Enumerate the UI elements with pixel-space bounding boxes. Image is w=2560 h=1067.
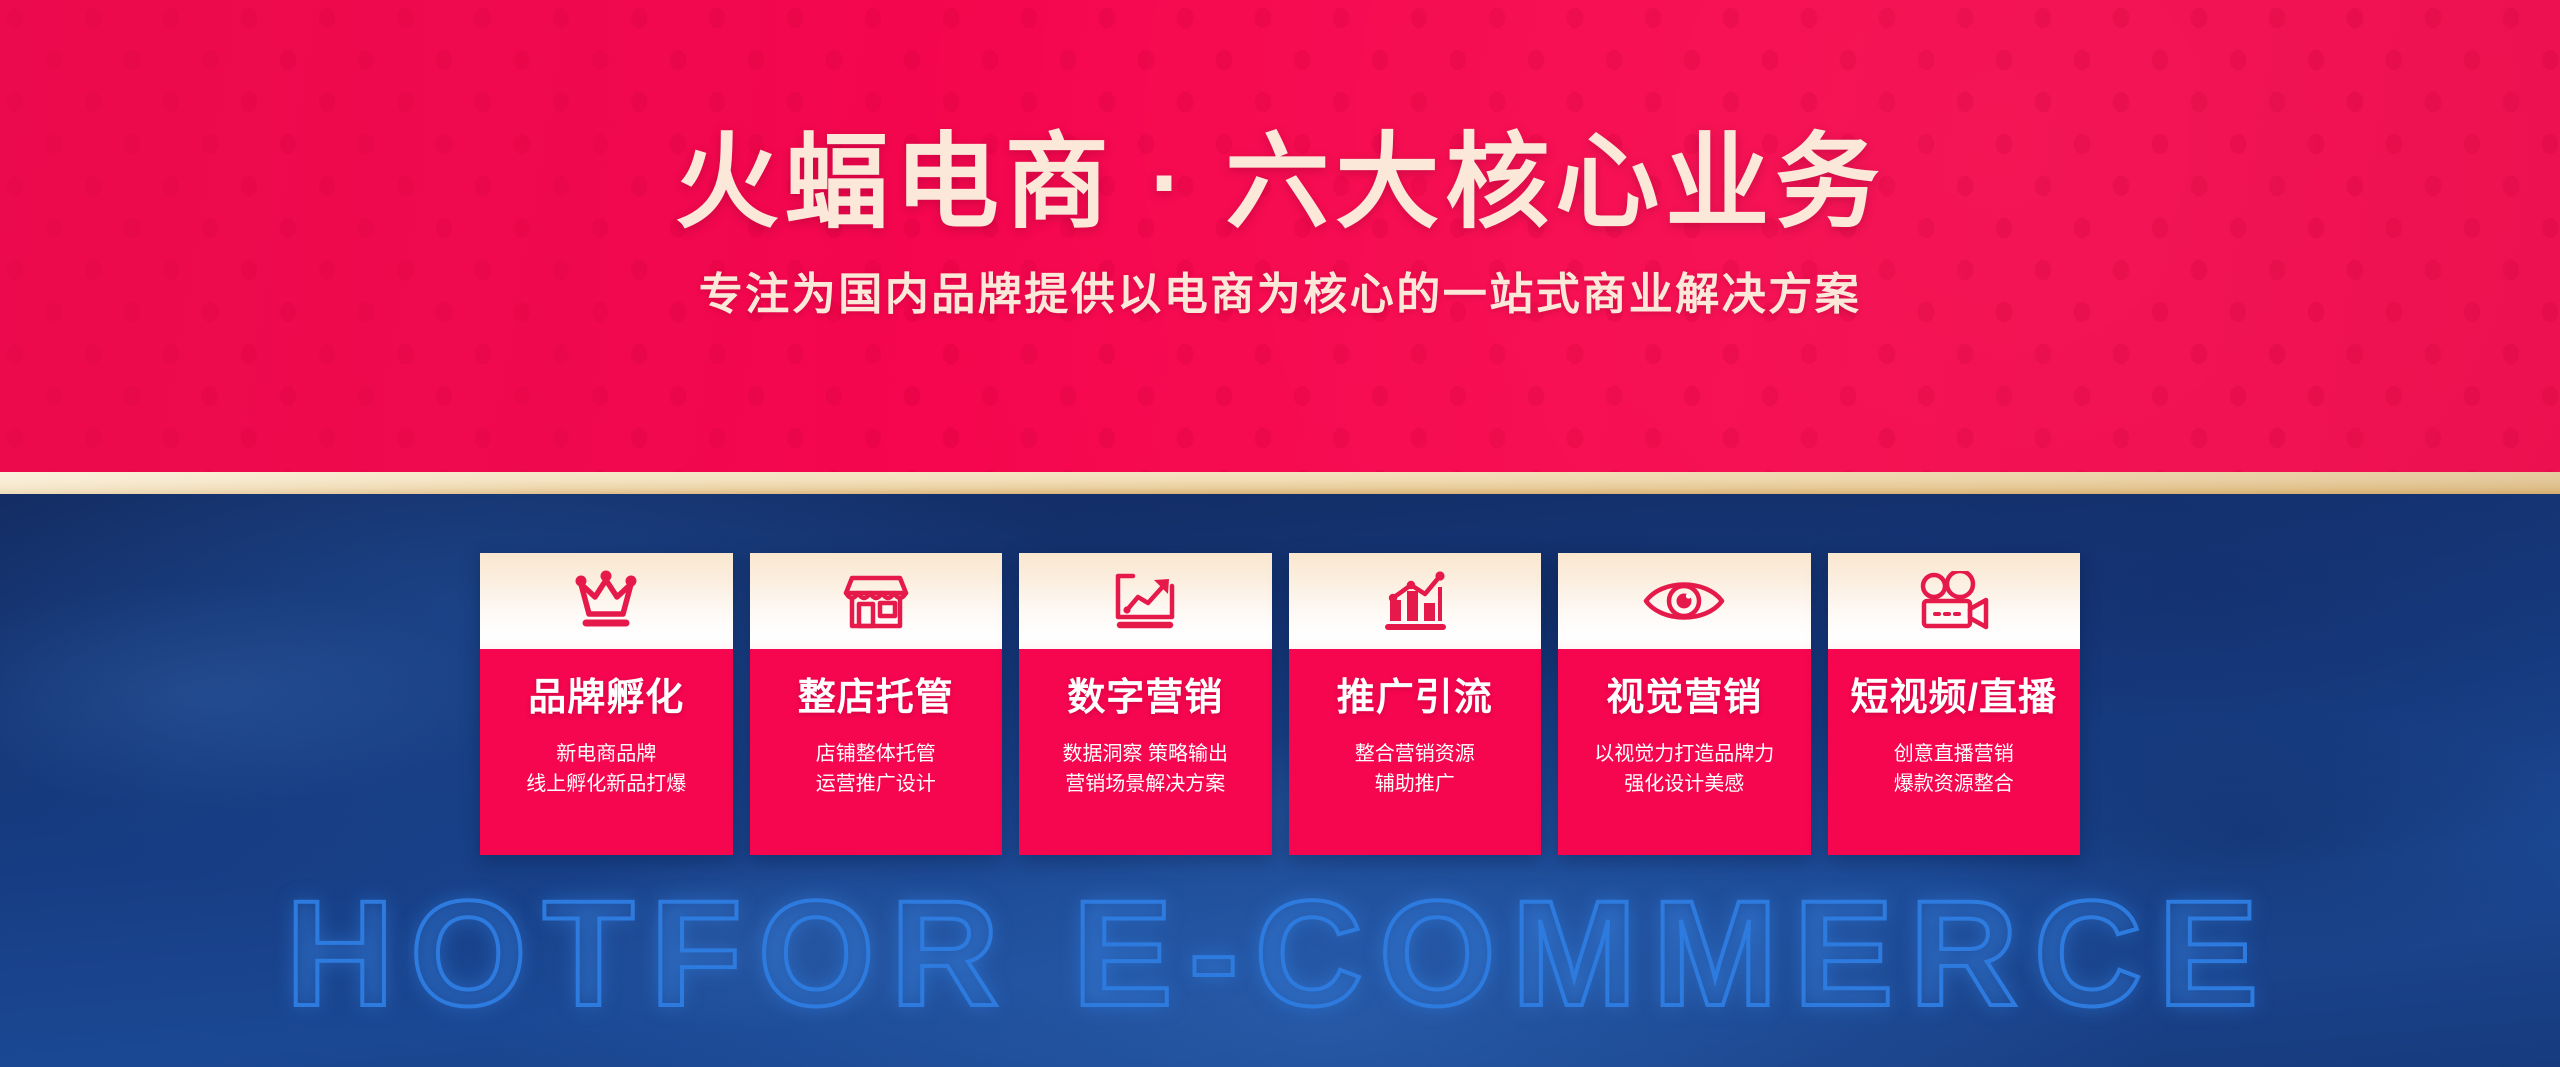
- video-camera-icon: [1917, 571, 1991, 631]
- card-body: 短视频/直播 创意直播营销 爆款资源整合: [1828, 649, 2081, 855]
- page-title: 火蝠电商 · 六大核心业务: [675, 131, 1885, 235]
- bar-chart-growth-icon: [1380, 570, 1450, 632]
- card-desc-line-1: 新电商品牌: [526, 739, 686, 769]
- card-desc-line-2: 爆款资源整合: [1894, 769, 2014, 799]
- card-body: 品牌孵化 新电商品牌 线上孵化新品打爆: [480, 649, 733, 855]
- service-card-short-video-live[interactable]: 短视频/直播 创意直播营销 爆款资源整合: [1828, 553, 2081, 855]
- card-body: 视觉营销 以视觉力打造品牌力 强化设计美感: [1558, 649, 1811, 855]
- card-title: 短视频/直播: [1850, 679, 2057, 717]
- service-card-digital-marketing[interactable]: 数字营销 数据洞察 策略输出 营销场景解决方案: [1019, 553, 1272, 855]
- card-description: 以视觉力打造品牌力 强化设计美感: [1594, 739, 1774, 800]
- gold-divider-bar: [0, 472, 2560, 494]
- card-title: 推广引流: [1337, 679, 1493, 717]
- card-description: 整合营销资源 辅助推广: [1355, 739, 1475, 800]
- card-desc-line-1: 店铺整体托管: [816, 739, 936, 769]
- crown-icon: [570, 570, 642, 632]
- service-card-store-management[interactable]: 整店托管 店铺整体托管 运营推广设计: [750, 553, 1003, 855]
- page-subtitle: 专注为国内品牌提供以电商为核心的一站式商业解决方案: [699, 273, 1862, 317]
- divider-sheen: [0, 472, 2560, 494]
- storefront-icon: [842, 570, 910, 632]
- service-card-row: 品牌孵化 新电商品牌 线上孵化新品打爆: [480, 553, 2080, 855]
- card-icon-area: [1019, 553, 1272, 649]
- card-desc-line-1: 创意直播营销: [1894, 739, 2014, 769]
- card-description: 店铺整体托管 运营推广设计: [816, 739, 936, 800]
- service-card-visual-marketing[interactable]: 视觉营销 以视觉力打造品牌力 强化设计美感: [1558, 553, 1811, 855]
- card-title: 数字营销: [1067, 679, 1223, 717]
- services-section: HOTFOR E-COMMERCE 品: [0, 494, 2560, 1067]
- promo-banner: 火蝠电商 · 六大核心业务 专注为国内品牌提供以电商为核心的一站式商业解决方案 …: [0, 0, 2560, 1067]
- card-title: 整店托管: [798, 679, 954, 717]
- card-desc-line-2: 运营推广设计: [816, 769, 936, 799]
- card-desc-line-1: 数据洞察 策略输出: [1062, 739, 1228, 769]
- service-card-traffic-promotion[interactable]: 推广引流 整合营销资源 辅助推广: [1289, 553, 1542, 855]
- brand-wordmark: HOTFOR E-COMMERCE: [0, 878, 2560, 1028]
- card-desc-line-2: 强化设计美感: [1594, 769, 1774, 799]
- card-icon-area: [1828, 553, 2081, 649]
- card-desc-line-1: 以视觉力打造品牌力: [1594, 739, 1774, 769]
- card-title: 视觉营销: [1606, 679, 1762, 717]
- card-desc-line-1: 整合营销资源: [1355, 739, 1475, 769]
- eye-icon: [1642, 574, 1726, 628]
- card-icon-area: [750, 553, 1003, 649]
- card-title: 品牌孵化: [528, 679, 684, 717]
- hero-text-block: 火蝠电商 · 六大核心业务 专注为国内品牌提供以电商为核心的一站式商业解决方案: [0, 0, 2560, 472]
- trending-chart-icon: [1110, 570, 1180, 632]
- card-description: 新电商品牌 线上孵化新品打爆: [526, 739, 686, 800]
- card-desc-line-2: 辅助推广: [1355, 769, 1475, 799]
- card-body: 整店托管 店铺整体托管 运营推广设计: [750, 649, 1003, 855]
- hero-section: 火蝠电商 · 六大核心业务 专注为国内品牌提供以电商为核心的一站式商业解决方案: [0, 0, 2560, 472]
- card-body: 推广引流 整合营销资源 辅助推广: [1289, 649, 1542, 855]
- card-desc-line-2: 营销场景解决方案: [1062, 769, 1228, 799]
- service-card-brand-incubation[interactable]: 品牌孵化 新电商品牌 线上孵化新品打爆: [480, 553, 733, 855]
- card-body: 数字营销 数据洞察 策略输出 营销场景解决方案: [1019, 649, 1272, 855]
- card-description: 创意直播营销 爆款资源整合: [1894, 739, 2014, 800]
- card-icon-area: [480, 553, 733, 649]
- card-icon-area: [1558, 553, 1811, 649]
- card-desc-line-2: 线上孵化新品打爆: [526, 769, 686, 799]
- card-icon-area: [1289, 553, 1542, 649]
- card-description: 数据洞察 策略输出 营销场景解决方案: [1062, 739, 1228, 800]
